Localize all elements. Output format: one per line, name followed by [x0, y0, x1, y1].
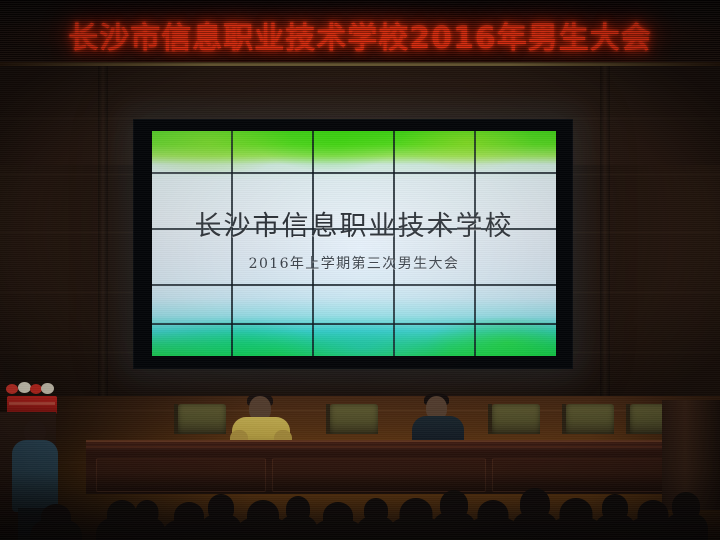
audience-person: [236, 500, 290, 540]
video-wall-horizontal-seam: [152, 172, 556, 174]
wall-pilaster-left: [98, 66, 108, 396]
video-wall-vertical-seam: [393, 131, 395, 356]
video-wall-vertical-seam: [312, 131, 314, 356]
audience-person: [388, 498, 444, 540]
audience-person: [30, 504, 82, 540]
audience-person: [626, 500, 680, 540]
video-wall-display: 长沙市信息职业技术学校 2016年上学期第三次男生大会: [152, 131, 556, 356]
audience-person: [96, 500, 148, 540]
audience-person: [466, 500, 520, 540]
red-flower-arrangement: [4, 382, 58, 412]
audience-person: [162, 502, 216, 540]
flower: [41, 383, 54, 394]
stage-chair: [178, 404, 226, 434]
stage-chair: [566, 404, 614, 434]
stage-chair: [492, 404, 540, 434]
slide-subtitle: 2016年上学期第三次男生大会: [152, 253, 556, 273]
table-edge-lip: [86, 446, 676, 450]
video-wall-horizontal-seam: [152, 284, 556, 286]
video-wall-panel-grid: [152, 131, 556, 356]
stage-chair: [330, 404, 378, 434]
video-wall-vertical-seam: [474, 131, 476, 356]
slide-title: 长沙市信息职业技术学校: [152, 204, 556, 243]
audience-person: [548, 498, 604, 540]
video-wall-color-mottling: [152, 131, 556, 356]
flower: [6, 384, 18, 394]
led-banner-text: 长沙市信息职业技术学校2016年男生大会: [0, 13, 720, 57]
auditorium-scene: 长沙市信息职业技术学校2016年男生大会 长沙市信息职业技术学校 2016年上学…: [0, 0, 720, 540]
audience-silhouettes: [0, 470, 720, 540]
video-wall-sheen: [152, 131, 556, 356]
video-wall-vertical-seam: [231, 131, 233, 356]
led-banner: 长沙市信息职业技术学校2016年男生大会: [0, 0, 720, 62]
wall-pilaster-right: [600, 66, 610, 396]
video-wall-horizontal-seam: [152, 323, 556, 325]
audience-person: [312, 502, 364, 540]
